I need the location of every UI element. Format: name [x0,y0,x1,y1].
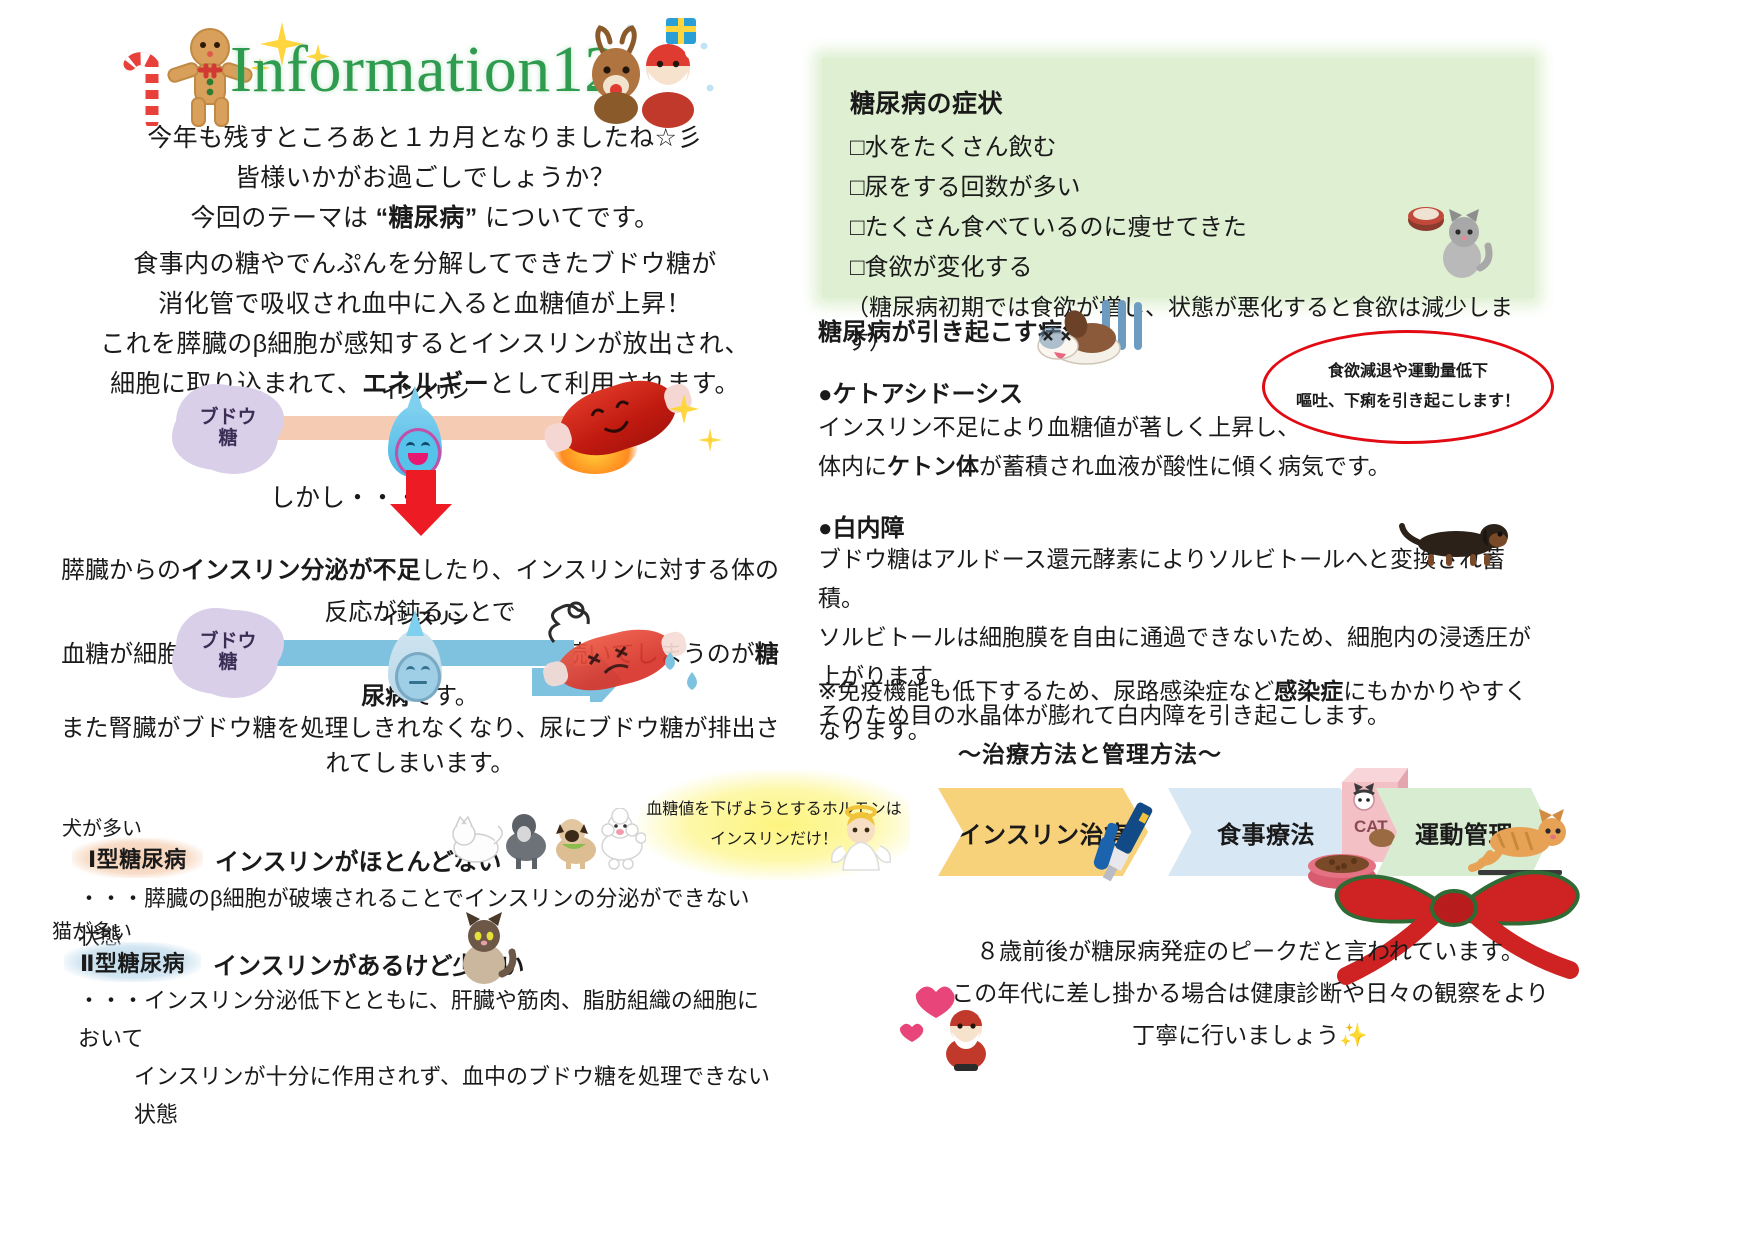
ketone-body-emphasis: ケトン体 [887,453,979,479]
glucose-blob-normal: ブドウ 糖 [180,390,276,466]
cat-with-bowl-icon [1406,198,1494,282]
footer-line-2: この年代に差し掛かる場合は健康診断や日々の観察をより [930,972,1570,1014]
intro-line-3: 今回のテーマは “糖尿病” についてです。 [60,198,790,238]
type2-tag: Ⅱ型糖尿病 [64,942,201,982]
ketoacidosis-name: ケトアシドーシス [833,381,1024,408]
type2-tag-label: Ⅱ型糖尿病 [64,942,201,982]
glucose-blob-diabetic: ブドウ 糖 [180,614,276,690]
ketoacidosis-line-2: 体内にケトン体が蓄積され血液が酸性に傾く病気です。 [818,447,1518,486]
insulin-label-normal: インスリン [382,378,469,403]
footer-line-3: 丁寧に行いましょう✨ [930,1014,1570,1056]
mechanism-line-1: 食事内の糖やでんぷんを分解してできたブドウ糖が [60,244,790,284]
insulin-deficiency-emphasis: インスリン分泌が不足 [181,557,421,584]
sick-dog-icon [1028,300,1148,366]
footer-message: ８歳前後が糖尿病発症のピークだと言われています。 この年代に差し掛かる場合は健康… [930,930,1570,1056]
kidney-excretion-line: また腎臓がブドウ糖を処理しきれなくなり、尿にブドウ糖が排出されてしまいます。 [50,708,790,778]
intro-line-3-post: についてです。 [478,204,660,232]
insulin-label-diabetic: インスリン [382,604,469,629]
keto-l2-a: 体内に [818,453,887,479]
type1-species-note: 犬が多い [62,812,142,841]
normal-metabolism-diagram: ブドウ 糖 インスリン [170,380,690,480]
type2-species-note: 猫が多い [52,915,132,944]
cataract-heading: ●白内障 [818,508,905,543]
type2-desc-line-2: インスリンが十分に作用されず、血中のブドウ糖を処理できない状態 [78,1058,778,1134]
warning-line-1: 食欲減退や運動量低下 [1328,357,1488,387]
type1-tag: Ⅰ型糖尿病 [72,838,203,878]
glucose-label-line1: ブドウ [199,407,256,428]
intro-theme: “糖尿病” [376,204,478,232]
cat-siamese-icon [448,912,520,986]
dog-group-icon [450,808,646,870]
angel-icon [828,800,894,874]
type2-desc-line-1: ・・・インスリン分泌低下とともに、肝臓や筋肉、脂肪組織の細胞において [78,982,778,1058]
down-arrow-icon [390,470,452,536]
glucose2-label-line2: 糖 [218,652,237,673]
def-l1-a: 膵臓からの [61,557,181,584]
intro-paragraph: 今年も残すところあと１カ月となりましたね☆彡 皆様いかがお過ごしでしょうか？ 今… [60,118,790,238]
glucose-label-line2: 糖 [218,428,237,449]
footer-line-1: ８歳前後が糖尿病発症のピークだと言われています。 [930,930,1570,972]
page-title: Information12 [230,32,618,108]
mechanism-line-2: 消化管で吸収され血中に入ると血糖値が上昇！ [60,284,790,324]
angel-bubble-line-2: インスリンだけ！ [710,825,838,855]
bullet-icon: ● [818,381,833,408]
ketoacidosis-heading: ●ケトアシドーシス [818,374,1023,409]
cataract-name: 白内障 [833,515,905,542]
symptoms-title: 糖尿病の症状 [822,58,1534,128]
mechanism-line-3: これを膵臓のβ細胞が感知するとインスリンが放出され、 [60,324,790,364]
keto-l2-b: が蓄積され血液が酸性に傾く病気です。 [979,453,1391,479]
footnote-a: ※免疫機能も低下するため、尿路感染症など [818,678,1274,704]
glucose2-label-line1: ブドウ [199,631,256,652]
treatment-label: 食事療法 [1217,815,1315,850]
dachshund-icon [1398,516,1510,568]
intro-line-3-pre: 今回のテーマは [190,204,375,232]
warning-line-2: 嘔吐、下痢を引き起こします！ [1296,387,1520,417]
sweat-drops-icon [656,642,710,698]
treatment-title: ～治療方法と管理方法～ [950,735,1230,769]
insulin-pen-icon [1086,796,1168,888]
bullet-icon: ● [818,515,833,542]
symptom-item: □水をたくさん飲む [822,128,1534,168]
type1-tag-label: Ⅰ型糖尿病 [72,838,203,878]
infection-emphasis: 感染症 [1274,678,1343,704]
warning-callout: 食欲減退や運動量低下 嘔吐、下痢を引き起こします！ [1262,330,1554,444]
diabetic-metabolism-diagram: ブドウ 糖 インスリン [170,608,650,704]
type2-description: ・・・インスリン分泌低下とともに、肝臓や筋肉、脂肪組織の細胞において インスリン… [78,982,778,1134]
reindeer-santa-icon [570,12,716,128]
intro-line-1: 今年も残すところあと１カ月となりましたね☆彡 [60,118,790,158]
sparkle-icon [668,388,728,464]
intro-line-2: 皆様いかがお過ごしでしょうか？ [60,158,790,198]
